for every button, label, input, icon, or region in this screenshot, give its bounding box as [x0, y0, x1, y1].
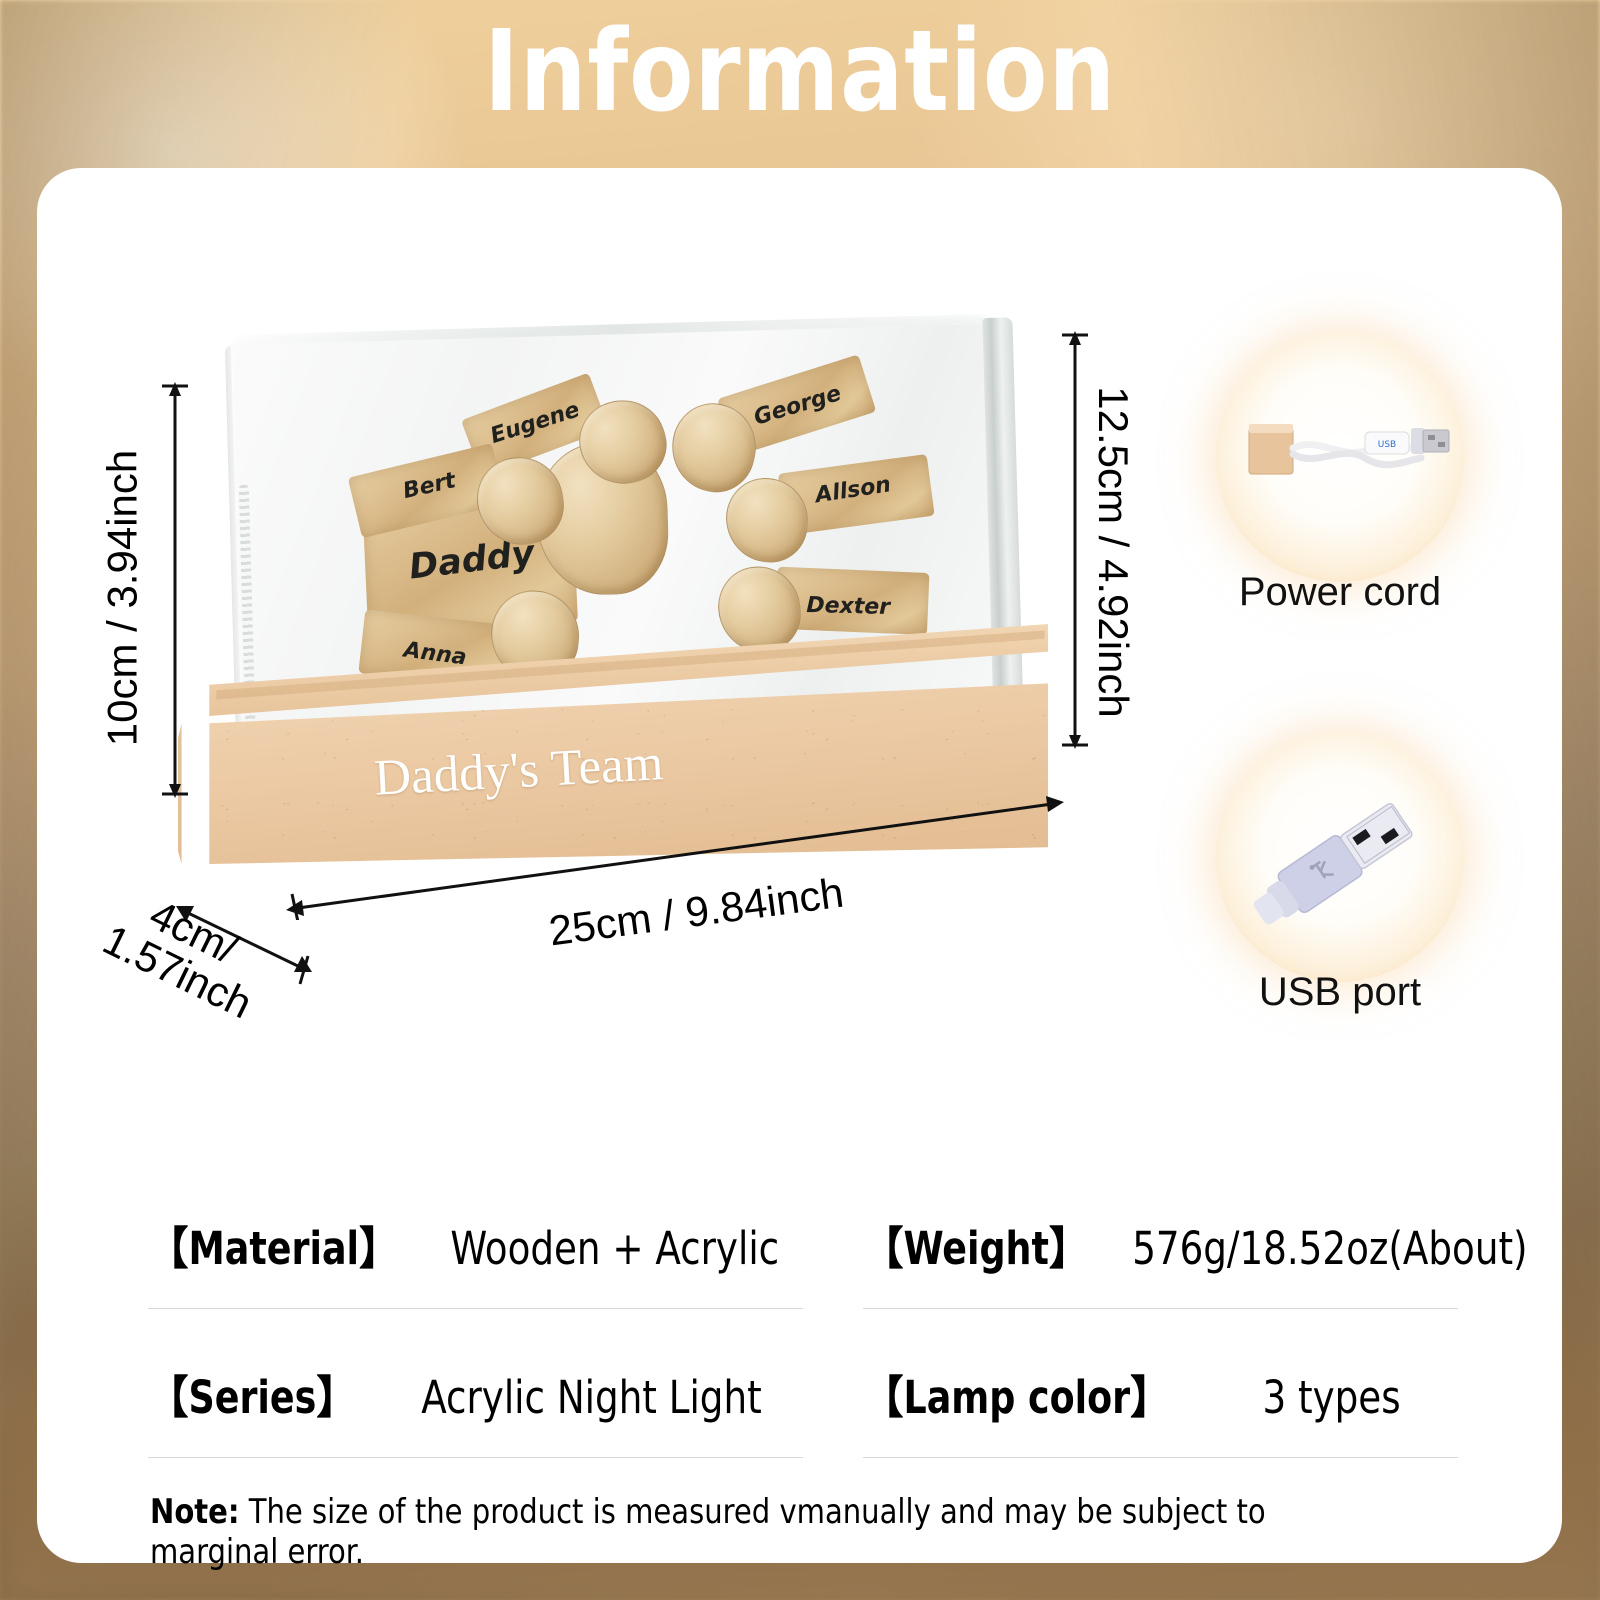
name-label-dexter: Dexter	[806, 593, 890, 620]
note-label: Note:	[150, 1492, 240, 1532]
usb-port-glow-circle	[1215, 732, 1465, 982]
spec-row-2: 【Series】 Acrylic Night Light 【Lamp color…	[148, 1361, 1458, 1458]
right-dimension-label: 12.5cm / 4.92inch	[1089, 386, 1137, 718]
power-cord-label: Power cord	[1180, 570, 1500, 615]
spec-key-series: 【Series】	[148, 1361, 357, 1426]
spec-divider	[863, 1308, 1458, 1309]
left-dimension-label: 10cm / 3.94inch	[98, 450, 146, 747]
spec-cell-series: 【Series】 Acrylic Night Light	[148, 1361, 803, 1458]
spec-key-weight: 【Weight】	[863, 1212, 1089, 1277]
svg-text:USB: USB	[1378, 440, 1396, 450]
usb-cable-icon: USB	[1215, 332, 1465, 582]
spec-divider	[863, 1457, 1458, 1458]
power-cord-glow-circle: USB	[1215, 332, 1465, 582]
spec-row-1: 【Material】 Wooden + Acrylic 【Weight】 576…	[148, 1212, 1458, 1309]
spec-divider	[148, 1457, 803, 1458]
note-text: The size of the product is measured vman…	[150, 1492, 1266, 1572]
spec-value-material: Wooden + Acrylic	[442, 1222, 788, 1275]
spec-table: 【Material】 Wooden + Acrylic 【Weight】 576…	[148, 1212, 1458, 1458]
spec-key-material: 【Material】	[148, 1212, 400, 1277]
spec-cell-weight: 【Weight】 576g/18.52oz(About)	[803, 1212, 1458, 1309]
spec-key-lamp-color: 【Lamp color】	[863, 1361, 1171, 1426]
left-dimension-line	[150, 380, 200, 800]
spec-divider	[148, 1308, 803, 1309]
spec-value-weight: 576g/18.52oz(About)	[1132, 1222, 1527, 1275]
usb-port-label: USB port	[1180, 970, 1500, 1015]
usb-connector-icon	[1215, 732, 1465, 982]
spec-value-lamp-color: 3 types	[1215, 1371, 1448, 1424]
spec-cell-material: 【Material】 Wooden + Acrylic	[148, 1212, 803, 1309]
page-title: Information	[56, 16, 1544, 128]
spec-value-series: Acrylic Night Light	[397, 1371, 786, 1424]
spec-cell-lamp-color: 【Lamp color】 3 types	[803, 1361, 1458, 1458]
note-row: Note: The size of the product is measure…	[150, 1492, 1385, 1572]
